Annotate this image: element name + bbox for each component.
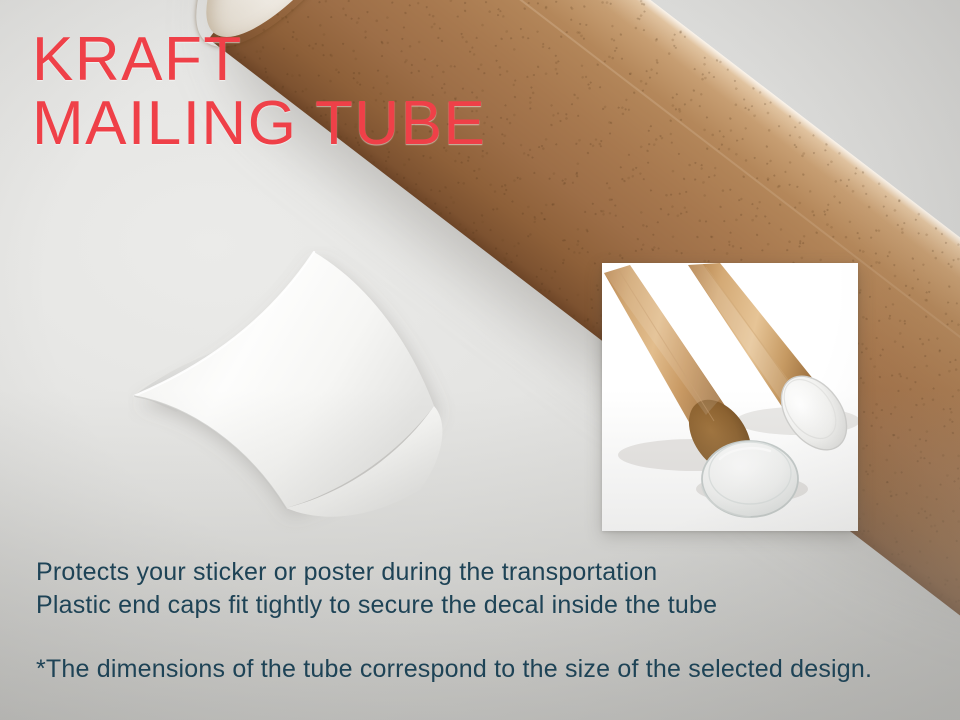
poster-front-face	[134, 252, 434, 508]
feature-line-2: Plastic end caps fit tightly to secure t…	[36, 589, 717, 622]
footnote-text: *The dimensions of the tube correspond t…	[36, 654, 872, 684]
product-photo-inset[interactable]	[602, 263, 858, 531]
feature-list: Protects your sticker or poster during t…	[36, 556, 717, 622]
loose-plastic-cap	[702, 441, 798, 517]
poster-sheet	[128, 246, 468, 546]
product-photo-illustration	[602, 263, 858, 531]
poster-fold-line	[134, 396, 286, 508]
feature-line-1: Protects your sticker or poster during t…	[36, 556, 717, 589]
product-banner: KRAFT MAILING TUBE Protects your sticker…	[0, 0, 960, 720]
poster-curl-underside	[136, 330, 342, 412]
page-title: KRAFT MAILING TUBE	[32, 28, 486, 156]
poster-edge-highlight	[134, 252, 314, 396]
poster-lower-lip	[286, 406, 442, 517]
